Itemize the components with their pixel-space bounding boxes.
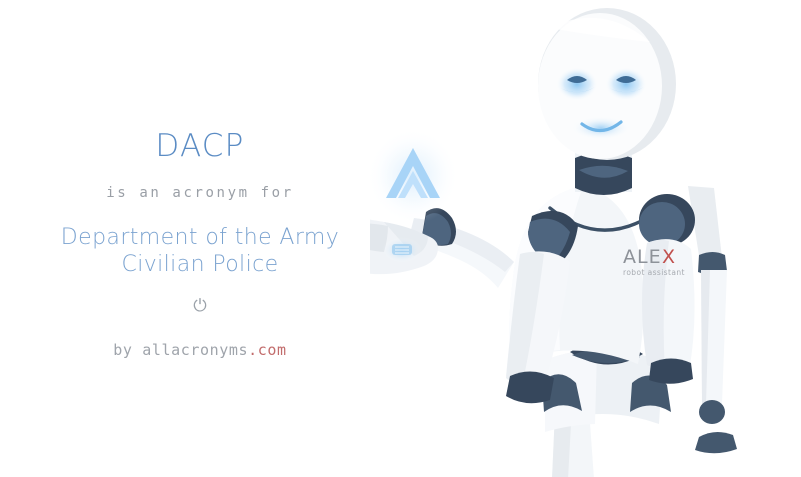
- robot-eye-right-glow: [605, 67, 647, 101]
- acronym-definition-page: DACP is an acronym for Department of the…: [0, 0, 801, 477]
- chest-label-main: ALE: [623, 246, 662, 268]
- robot-alex-graphic: ALE X robot assistant: [370, 0, 801, 477]
- relation-label: is an acronym for: [0, 186, 400, 200]
- chest-label: ALE X robot assistant: [623, 246, 685, 277]
- hologram-chevron-icon: [370, 128, 459, 224]
- robot-arm-right: [639, 194, 695, 384]
- robot-mouth-glow: [571, 116, 631, 140]
- chest-label-accent: X: [662, 246, 676, 268]
- attribution-tld: .com: [248, 341, 287, 359]
- expansion-line-1: Department of the Army: [61, 225, 339, 250]
- power-icon: ⏻: [0, 298, 400, 315]
- robot-eye-left-glow: [556, 67, 598, 101]
- expansion-line-2: Civilian Police: [0, 251, 400, 278]
- acronym-expansion: Department of the Army Civilian Police: [0, 224, 400, 278]
- attribution-prefix: by: [113, 341, 142, 359]
- acronym-text-column: DACP is an acronym for Department of the…: [0, 0, 400, 477]
- attribution-site-name: allacronyms: [142, 341, 248, 359]
- robot-illustration: ALE X robot assistant: [370, 0, 801, 477]
- page-title: DACP: [0, 131, 400, 162]
- chest-label-sub: robot assistant: [623, 268, 685, 277]
- robot-head: [538, 8, 676, 160]
- robot-leg-right: [688, 186, 737, 453]
- attribution[interactable]: by allacronyms.com: [0, 343, 400, 358]
